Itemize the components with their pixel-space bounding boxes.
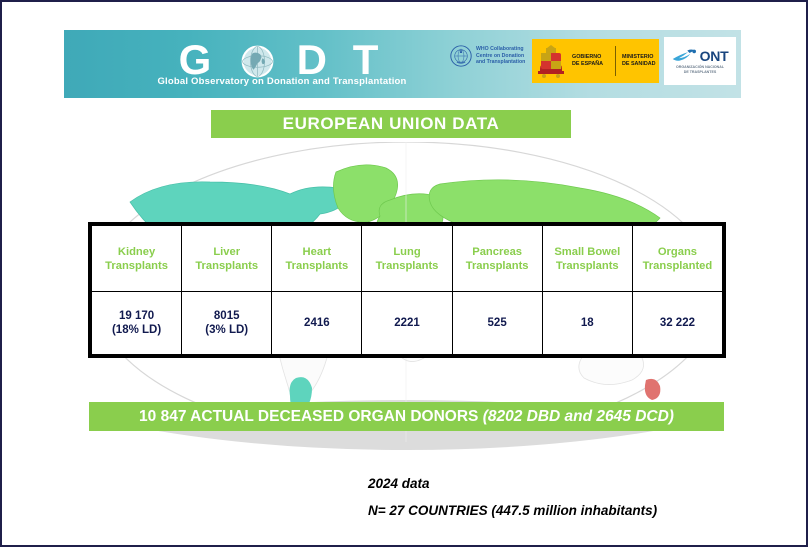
value-label: 2221 — [394, 316, 420, 330]
logo-divider — [615, 46, 616, 76]
table-cell-lung-value: 2221 — [362, 292, 452, 354]
globe-icon — [241, 41, 274, 74]
footer-countries-line: N= 27 COUNTRIES (447.5 million inhabitan… — [368, 497, 657, 524]
footer-notes: 2024 data N= 27 COUNTRIES (447.5 million… — [368, 470, 657, 524]
table-cell-organs-transplanted-value: 32 222 — [633, 292, 722, 354]
table-header-cell-organs-transplanted: Organs Transplanted — [633, 226, 722, 291]
table-header-cell-lung: Lung Transplants — [362, 226, 452, 291]
value-label: 18 — [581, 316, 594, 330]
value-label: 19 170 (18% LD) — [112, 309, 161, 337]
godt-letter-g: G — [179, 37, 219, 83]
who-label: WHO Collaborating Centre on Donation and… — [476, 46, 525, 66]
donor-banner-detail: (8202 DBD and 2645 DCD) — [483, 408, 674, 426]
ont-subtitle: ORGANIZACIÓN NACIONAL DE TRASPLANTES — [676, 65, 724, 75]
header-label: Liver Transplants — [195, 245, 258, 273]
spain-government-label: GOBIERNO DE ESPAÑA — [572, 54, 609, 68]
footer-year-line: 2024 data — [368, 470, 657, 497]
spain-coat-of-arms-icon — [536, 43, 566, 79]
godt-wordmark: G D T — [132, 34, 432, 78]
header-label: Small Bowel Transplants — [554, 245, 620, 273]
header-label: Kidney Transplants — [105, 245, 168, 273]
deceased-donors-banner: 10 847 ACTUAL DECEASED ORGAN DONORS (820… — [89, 402, 724, 431]
table-data-row: 19 170 (18% LD) 8015 (3% LD) 2416 2221 5… — [92, 292, 722, 354]
ont-logo-row: ONT — [672, 48, 729, 64]
page-title: EUROPEAN UNION DATA — [211, 110, 571, 138]
godt-letter-d: D — [297, 37, 334, 83]
ont-wing-icon — [672, 48, 698, 64]
table-header-cell-heart: Heart Transplants — [272, 226, 362, 291]
table-cell-small-bowel-value: 18 — [543, 292, 633, 354]
spain-government-logo: GOBIERNO DE ESPAÑA MINISTERIO DE SANIDAD — [532, 39, 659, 83]
header-label: Organs Transplanted — [643, 245, 713, 273]
transplant-data-table: Kidney Transplants Liver Transplants Hea… — [88, 222, 726, 358]
value-label: 525 — [488, 316, 507, 330]
table-header-cell-small-bowel: Small Bowel Transplants — [543, 226, 633, 291]
ont-logo: ONT ORGANIZACIÓN NACIONAL DE TRASPLANTES — [664, 37, 736, 85]
table-header-cell-liver: Liver Transplants — [182, 226, 272, 291]
value-label: 8015 (3% LD) — [205, 309, 248, 337]
value-label: 32 222 — [660, 316, 695, 330]
ministry-health-label: MINISTERIO DE SANIDAD — [622, 54, 659, 68]
godt-logo: G D T Global Observatory on Donation and… — [132, 34, 432, 96]
donor-banner-main: 10 847 ACTUAL DECEASED ORGAN DONORS — [139, 408, 483, 426]
region-new-zealand — [645, 379, 660, 400]
header-label: Heart Transplants — [285, 245, 348, 273]
table-cell-liver-value: 8015 (3% LD) — [182, 292, 272, 354]
table-header-cell-kidney: Kidney Transplants — [92, 226, 182, 291]
who-emblem-icon — [449, 44, 473, 68]
table-header-cell-pancreas: Pancreas Transplants — [453, 226, 543, 291]
header-label: Lung Transplants — [376, 245, 439, 273]
table-header-row: Kidney Transplants Liver Transplants Hea… — [92, 226, 722, 292]
table-cell-heart-value: 2416 — [272, 292, 362, 354]
table-cell-kidney-value: 19 170 (18% LD) — [92, 292, 182, 354]
header-label: Pancreas Transplants — [466, 245, 529, 273]
godt-letter-t: T — [353, 37, 386, 83]
ont-wordmark: ONT — [700, 48, 729, 64]
value-label: 2416 — [304, 316, 330, 330]
table-cell-pancreas-value: 525 — [453, 292, 543, 354]
header-band: G D T Global Observatory on Donation and… — [64, 30, 741, 98]
who-logo: WHO Collaborating Centre on Donation and… — [449, 44, 525, 68]
slide-canvas: G D T Global Observatory on Donation and… — [0, 0, 808, 547]
